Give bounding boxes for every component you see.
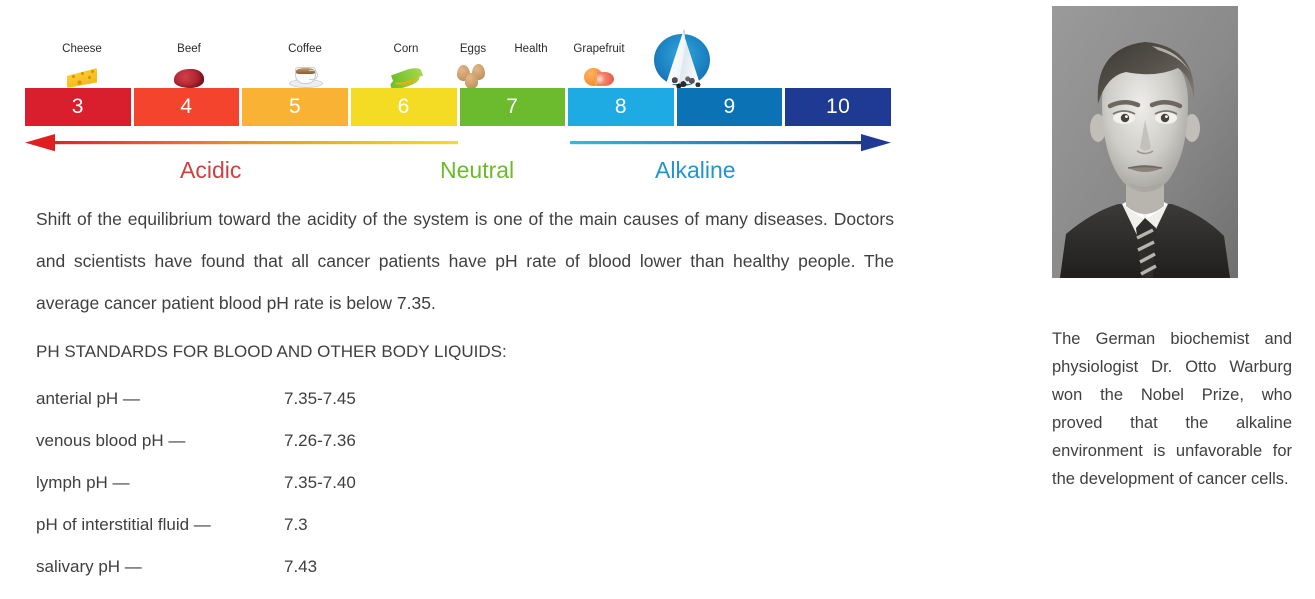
otto-warburg-portrait bbox=[1052, 6, 1238, 278]
ph-standard-row: pH of interstitial fluid —7.3 bbox=[36, 504, 894, 546]
ph-standard-value: 7.35-7.40 bbox=[284, 462, 894, 504]
ph-food-item: Coffee bbox=[259, 43, 351, 88]
ph-scale-infographic: CheeseBeefCoffeeCornEggsHealthGrapefruit… bbox=[25, 6, 891, 186]
ph-food-label: Coffee bbox=[259, 43, 351, 56]
ph-value-label: 9 bbox=[723, 95, 735, 119]
ph-standard-row: venous blood pH —7.26-7.36 bbox=[36, 420, 894, 462]
ph-standard-label: pH of interstitial fluid — bbox=[36, 504, 284, 546]
ph-value-label: 7 bbox=[506, 95, 518, 119]
teabag-logo-icon bbox=[650, 30, 720, 92]
ph-value-bar: 5 bbox=[242, 88, 348, 126]
ph-food-glyph bbox=[259, 58, 351, 88]
ph-value-bar: 8 bbox=[568, 88, 674, 126]
ph-value-label: 4 bbox=[180, 95, 192, 119]
page-root: CheeseBeefCoffeeCornEggsHealthGrapefruit… bbox=[0, 0, 1315, 599]
cheese-icon bbox=[67, 68, 97, 88]
ph-value-label: 5 bbox=[289, 95, 301, 119]
coffee-icon bbox=[288, 64, 322, 88]
grapefruit-icon bbox=[584, 68, 614, 88]
ph-direction-arrows bbox=[25, 131, 891, 157]
ph-food-item: Cheese bbox=[36, 43, 128, 88]
intro-paragraph: Shift of the equilibrium toward the acid… bbox=[36, 198, 894, 324]
ph-zone-labels: AcidicNeutralAlkaline bbox=[25, 157, 891, 187]
ph-value-label: 3 bbox=[72, 95, 84, 119]
right-column: The German biochemist and physiologist D… bbox=[1052, 0, 1302, 599]
ph-standard-label: anterial pH — bbox=[36, 378, 284, 420]
ph-food-icon-row: CheeseBeefCoffeeCornEggsHealthGrapefruit bbox=[25, 6, 891, 88]
ph-value-bars: 345678910 bbox=[25, 88, 891, 126]
ph-food-glyph bbox=[36, 58, 128, 88]
ph-value-bar: 7 bbox=[460, 88, 566, 126]
ph-food-item: Beef bbox=[143, 43, 235, 88]
ph-standard-value: 7.26-7.36 bbox=[284, 420, 894, 462]
ph-zone-label: Alkaline bbox=[655, 157, 736, 184]
ph-standard-label: lymph pH — bbox=[36, 462, 284, 504]
ph-standard-value: 7.43 bbox=[284, 546, 894, 588]
ph-food-label: Grapefruit bbox=[553, 43, 645, 56]
ph-value-label: 8 bbox=[615, 95, 627, 119]
ph-food-glyph bbox=[553, 58, 645, 88]
ph-value-label: 6 bbox=[398, 95, 410, 119]
alkaline-arrow-icon bbox=[570, 134, 891, 151]
ph-value-bar: 10 bbox=[785, 88, 891, 126]
ph-arrow-svg bbox=[25, 131, 891, 157]
corn-icon bbox=[389, 68, 423, 88]
ph-standard-row: salivary pH —7.43 bbox=[36, 546, 894, 588]
ph-standard-value: 7.35-7.45 bbox=[284, 378, 894, 420]
ph-food-glyph bbox=[143, 58, 235, 88]
ph-standards-list: anterial pH —7.35-7.45venous blood pH —7… bbox=[36, 378, 894, 588]
ph-standard-row: lymph pH —7.35-7.40 bbox=[36, 462, 894, 504]
ph-standard-row: anterial pH —7.35-7.45 bbox=[36, 378, 894, 420]
teabag-logo-glyph bbox=[639, 26, 731, 92]
standards-title: PH STANDARDS FOR BLOOD AND OTHER BODY LI… bbox=[36, 338, 894, 366]
ph-value-bar: 3 bbox=[25, 88, 131, 126]
ph-standard-label: salivary pH — bbox=[36, 546, 284, 588]
left-column: CheeseBeefCoffeeCornEggsHealthGrapefruit… bbox=[0, 0, 1000, 599]
ph-value-bar: 6 bbox=[351, 88, 457, 126]
ph-food-item: Grapefruit bbox=[553, 43, 645, 88]
ph-food-label: Beef bbox=[143, 43, 235, 56]
ph-food-label: Cheese bbox=[36, 43, 128, 56]
warburg-caption: The German biochemist and physiologist D… bbox=[1052, 325, 1292, 493]
beef-icon bbox=[174, 69, 204, 88]
ph-zone-label: Neutral bbox=[440, 157, 514, 184]
ph-zone-label: Acidic bbox=[180, 157, 241, 184]
health-icon bbox=[516, 63, 546, 88]
ph-value-bar: 9 bbox=[677, 88, 783, 126]
acidic-arrow-icon bbox=[25, 134, 458, 151]
body-text-block: Shift of the equilibrium toward the acid… bbox=[36, 198, 894, 588]
ph-standard-value: 7.3 bbox=[284, 504, 894, 546]
ph-standard-label: venous blood pH — bbox=[36, 420, 284, 462]
portrait-illustration bbox=[1052, 6, 1238, 278]
brand-logo bbox=[639, 24, 731, 92]
ph-value-label: 10 bbox=[826, 95, 850, 119]
ph-value-bar: 4 bbox=[134, 88, 240, 126]
